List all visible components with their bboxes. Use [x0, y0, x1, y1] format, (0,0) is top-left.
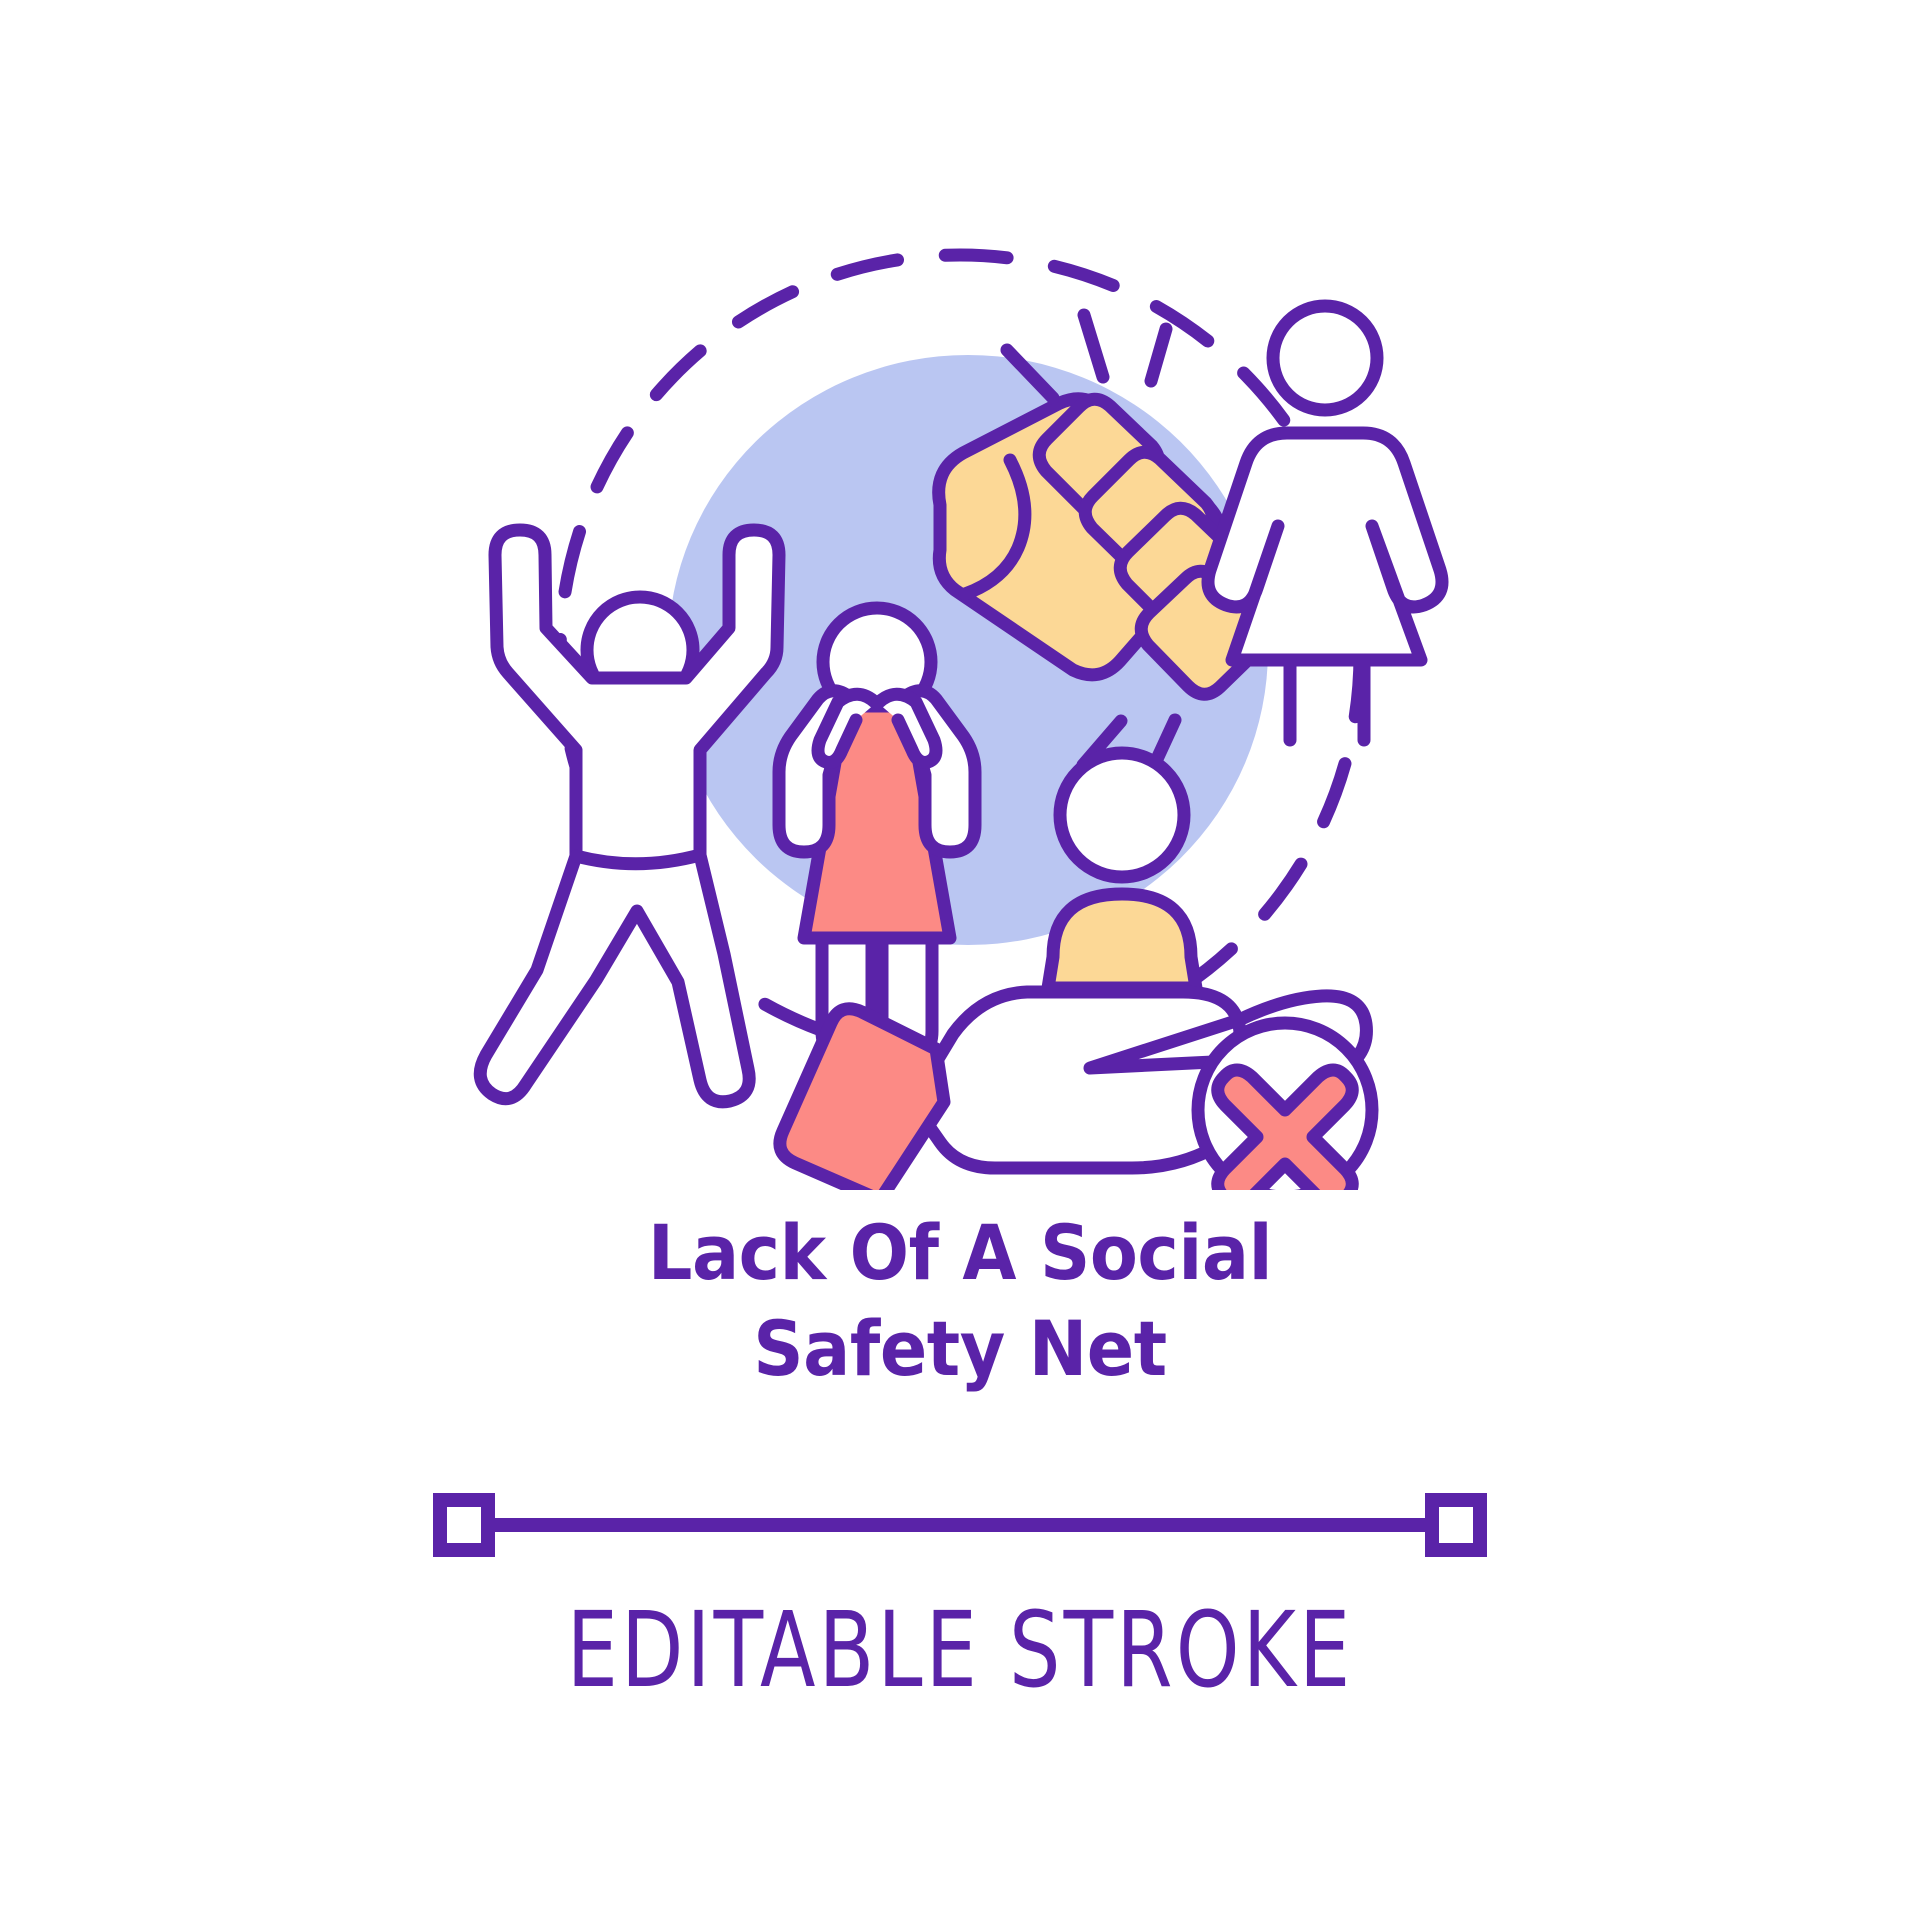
pink-sleeve [780, 1009, 944, 1190]
held-person-body [1048, 894, 1196, 988]
title-line-1: Lack Of A Social [77, 1205, 1843, 1301]
red-x-circle [1198, 1023, 1372, 1190]
divider-endpoint-left [440, 1500, 488, 1550]
divider-endpoint-right [1432, 1500, 1480, 1550]
concept-illustration [0, 150, 1920, 1190]
concept-icon-page: Lack Of A Social Safety Net EDITABLE STR… [0, 0, 1920, 1920]
divider-graphic [430, 1490, 1490, 1560]
title-line-2: Safety Net [77, 1301, 1843, 1397]
page-title: Lack Of A Social Safety Net [0, 1205, 1920, 1397]
editable-stroke-label: EDITABLE STROKE [211, 1590, 1709, 1710]
editable-stroke-divider [0, 1480, 1920, 1570]
held-person-head [1060, 753, 1184, 877]
illustration-area [0, 150, 1920, 1190]
